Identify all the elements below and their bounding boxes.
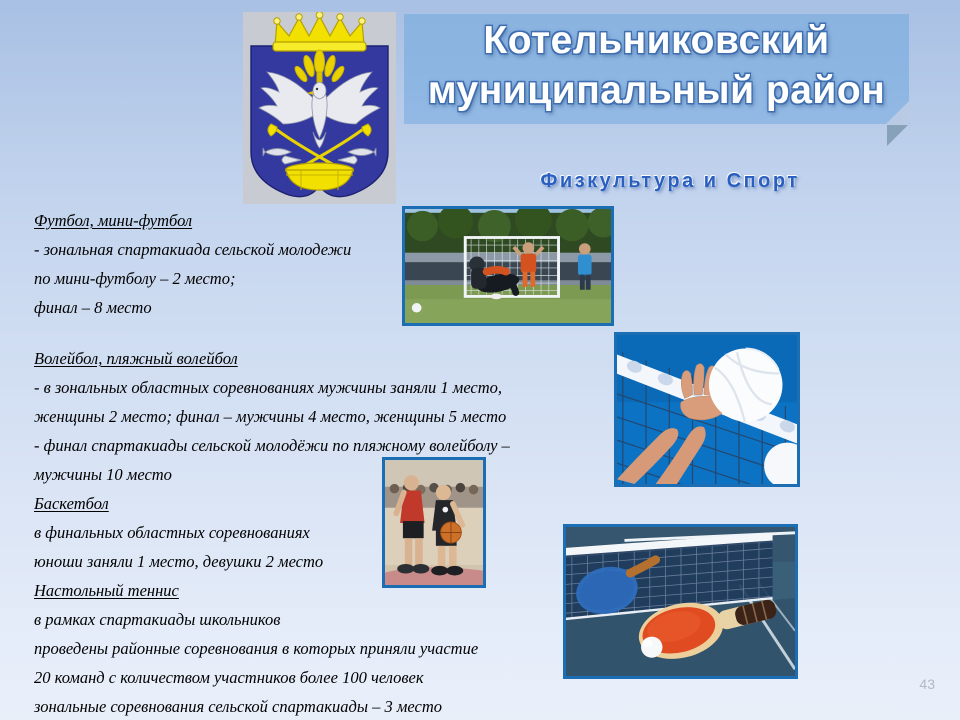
section-line: зональные соревнования сельской спартаки… <box>34 692 624 720</box>
slide-body-text: Футбол, мини-футбол - зональная спартаки… <box>34 206 624 720</box>
section-line: - финал спартакиады сельской молодёжи по… <box>34 431 624 460</box>
section-heading-football: Футбол, мини-футбол <box>34 206 624 235</box>
section-line: в финальных областных соревнованиях <box>34 518 624 547</box>
page-subtitle: Физкультура и Спорт <box>480 170 860 193</box>
section-heading-volleyball: Волейбол, пляжный волейбол <box>34 344 624 373</box>
coat-of-arms-emblem <box>243 12 396 204</box>
section-line: мужчины 10 место <box>34 460 624 489</box>
page-title-line1: Котельниковский <box>404 16 909 66</box>
section-line: женщины 2 место; финал – мужчины 4 место… <box>34 402 624 431</box>
paragraph-spacer <box>34 322 624 344</box>
section-line: в рамках спартакиады школьников <box>34 605 624 634</box>
volleyball-photo <box>614 332 800 487</box>
slide-number: 43 <box>919 676 935 692</box>
section-heading-table-tennis: Настольный теннис <box>34 576 624 605</box>
page-title: Котельниковский муниципальный район <box>404 16 909 116</box>
page-title-line2: муниципальный район <box>404 66 909 116</box>
coat-of-arms-icon <box>243 12 396 204</box>
section-line: - зональная спартакиада сельской молодеж… <box>34 235 624 264</box>
section-line: проведены районные соревнования в которы… <box>34 634 624 663</box>
banner-fold-shadow <box>887 123 910 146</box>
presentation-slide: Котельниковский муниципальный район Физк… <box>0 0 960 720</box>
section-line: - в зональных областных соревнованиях му… <box>34 373 624 402</box>
section-line: 20 команд с количеством участников более… <box>34 663 624 692</box>
section-heading-basketball: Баскетбол <box>34 489 624 518</box>
section-line: финал – 8 место <box>34 293 624 322</box>
section-line: по мини-футболу – 2 место; <box>34 264 624 293</box>
section-line: юноши заняли 1 место, девушки 2 место <box>34 547 624 576</box>
